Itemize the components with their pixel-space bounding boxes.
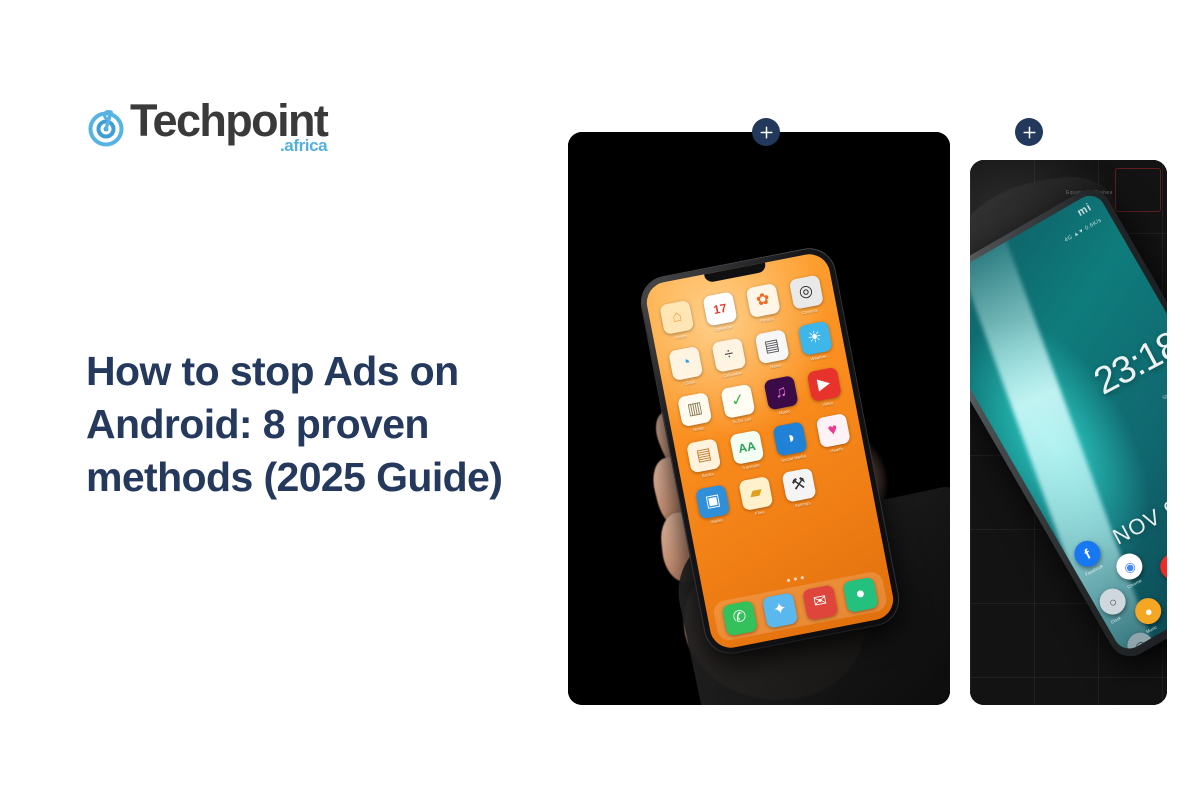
app-icon-calculator[interactable]: ÷Calculator (708, 337, 751, 380)
app-label: Health (830, 446, 843, 453)
app-tile: ⚒ (781, 468, 816, 503)
app-icon-notes[interactable]: ▥Notes (674, 391, 717, 434)
app-tile: ▰ (738, 476, 773, 511)
app-icon-news[interactable]: ▤News (751, 328, 794, 371)
app-label: Camera (802, 307, 818, 315)
app-icon-photos[interactable]: ✿Photos (742, 282, 785, 325)
plus-icon (760, 126, 773, 139)
app-label: Wallet (710, 517, 723, 524)
app-label: Clock (684, 379, 696, 386)
app-label: Video (822, 400, 834, 407)
add-image-button-2[interactable] (1015, 118, 1043, 146)
app-label: Calendar (715, 324, 733, 332)
app-icon-books[interactable]: ▤Books (683, 437, 726, 480)
app-tile: ▶ (806, 367, 841, 402)
app-label: Photos (760, 316, 774, 324)
app-label: News (770, 362, 782, 369)
app-tile: AA (729, 430, 764, 465)
dock-icon-safari[interactable]: ✦ (762, 592, 798, 628)
android-app-label: Clock (1110, 615, 1122, 625)
dock-icon-messages[interactable]: ● (842, 576, 878, 612)
techpoint-target-logo-icon (86, 99, 128, 147)
app-label: Calculator (723, 370, 743, 379)
plus-icon (1023, 126, 1036, 139)
app-grid: ⌂Home17Calendar✿Photos◎Camera◔Clock÷Calc… (656, 274, 864, 527)
page-dot (800, 576, 804, 580)
app-tile: ▣ (695, 484, 730, 519)
app-label: To Do List (732, 416, 752, 425)
app-tile: ✓ (720, 384, 755, 419)
app-tile: 17 (703, 291, 738, 326)
app-icon-calendar[interactable]: 17Calendar (699, 291, 742, 334)
app-tile: ◔ (669, 346, 704, 381)
site-logo[interactable]: Techpoint .africa (86, 95, 327, 157)
xiaomi-android-home-screen-photo[interactable]: Equatorial Guinea mi 4G ▲▼ 0.6K/s 23:18 … (970, 160, 1167, 705)
notch (704, 263, 767, 284)
app-tile: ✿ (745, 283, 780, 318)
photo-xiaomi-on-map: Equatorial Guinea mi 4G ▲▼ 0.6K/s 23:18 … (970, 160, 1167, 705)
app-tile: ▥ (677, 392, 712, 427)
app-label: Weather (810, 353, 827, 361)
app-tile: ÷ (711, 337, 746, 372)
dock-icon-mail[interactable]: ✉ (802, 584, 838, 620)
app-icon-social-media[interactable]: ◑Social Media (769, 421, 812, 464)
app-tile: ⌂ (660, 300, 695, 335)
app-icon-music[interactable]: ♫Music (760, 375, 803, 418)
app-icon-video[interactable]: ▶Video (803, 366, 846, 409)
app-tile: ▤ (754, 329, 789, 364)
article-hero-banner: Techpoint .africa How to stop Ads on And… (0, 0, 1200, 800)
app-icon-translate[interactable]: AATranslate (726, 429, 769, 472)
dock-icon-phone[interactable]: ✆ (722, 600, 758, 636)
app-tile: ☀ (797, 321, 832, 356)
app-icon-to-do-list[interactable]: ✓To Do List (717, 383, 760, 426)
photo-iphone-in-hand: ⌂Home17Calendar✿Photos◎Camera◔Clock÷Calc… (568, 132, 950, 705)
app-label: Files (755, 509, 765, 516)
app-label: Books (701, 471, 714, 478)
app-tile: ◑ (772, 421, 807, 456)
android-app-icon-clock[interactable]: ○ (1095, 584, 1130, 619)
app-label: Music (779, 408, 791, 415)
android-app-icon-youtube[interactable]: ▶ (1156, 549, 1167, 584)
app-tile: ♥ (815, 413, 850, 448)
app-tile: ▤ (686, 438, 721, 473)
app-tile: ♫ (763, 375, 798, 410)
app-tile: ◎ (788, 275, 823, 310)
android-app-label: Music (1145, 625, 1157, 635)
android-app-icon-music[interactable]: ● (1131, 594, 1166, 629)
app-label: Notes (693, 425, 705, 432)
app-icon-camera[interactable]: ◎Camera (785, 274, 828, 317)
app-icon-clock[interactable]: ◔Clock (665, 345, 708, 388)
page-title: How to stop Ads on Android: 8 proven met… (86, 345, 566, 504)
app-label: Settings (794, 500, 811, 508)
app-label: Translate (741, 462, 760, 470)
page-dot (793, 577, 797, 581)
app-icon-files[interactable]: ▰Files (735, 475, 778, 518)
iphone-home-screen-photo[interactable]: ⌂Home17Calendar✿Photos◎Camera◔Clock÷Calc… (568, 132, 950, 705)
app-icon-home[interactable]: ⌂Home (656, 299, 699, 342)
app-icon-settings[interactable]: ⚒Settings (778, 467, 821, 510)
page-dot (786, 579, 790, 583)
app-label: Home (675, 333, 687, 340)
app-icon-health[interactable]: ♥Health (812, 412, 855, 455)
app-icon-wallet[interactable]: ▣Wallet (692, 484, 735, 527)
android-app-icon-chrome[interactable]: ◉ (1112, 549, 1147, 584)
brand-tld: .africa (280, 137, 327, 155)
add-image-button-1[interactable] (752, 118, 780, 146)
app-icon-weather[interactable]: ☀Weather (794, 320, 837, 363)
map-grid-accent (1115, 168, 1161, 212)
